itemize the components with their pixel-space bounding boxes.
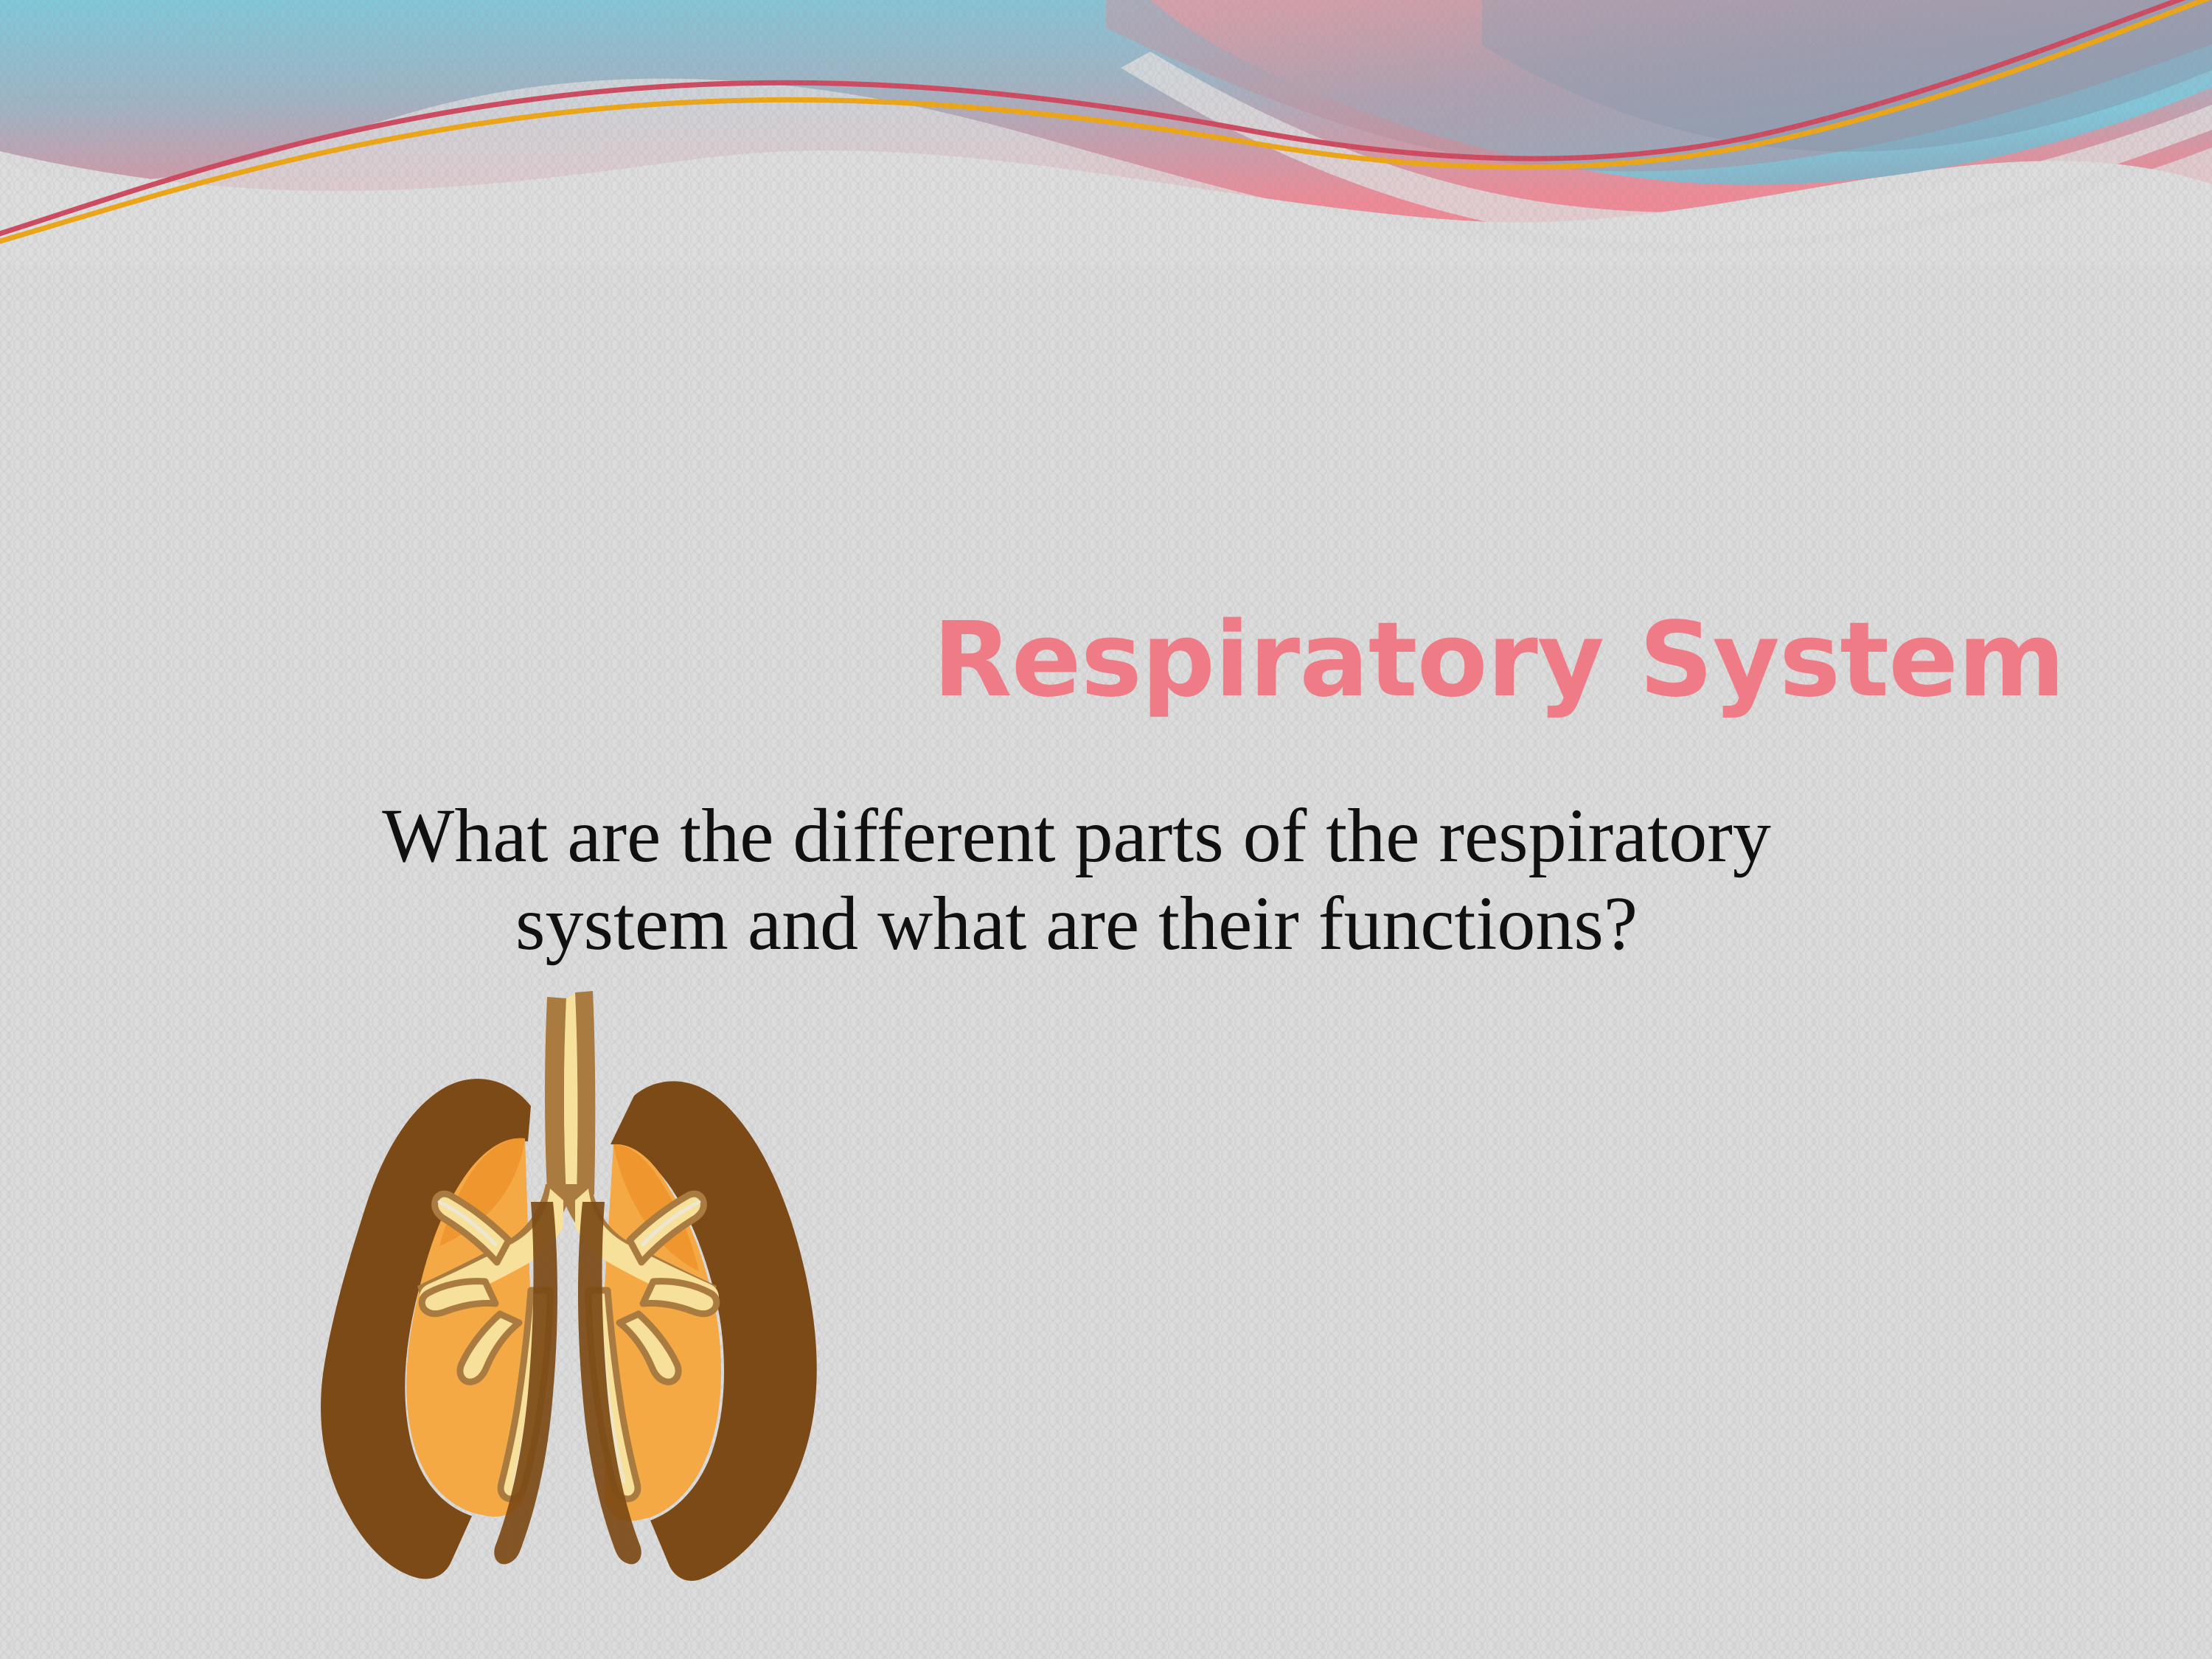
subtitle-block: What are the different parts of the resp… [136, 793, 2017, 967]
slide-subtitle-line-2: system and what are their functions? [136, 880, 2017, 968]
trachea-edge-right [575, 991, 595, 1197]
trachea-core [564, 994, 577, 1197]
presentation-slide: Respiratory System What are the differen… [0, 0, 2212, 1659]
trachea-edge-left [545, 997, 566, 1196]
slide-subtitle-line-1: What are the different parts of the resp… [136, 793, 2017, 880]
lungs-illustration [288, 981, 848, 1593]
title-block: Respiratory System [0, 605, 2065, 716]
header-decoration [0, 0, 2212, 265]
slide-title: Respiratory System [0, 605, 2065, 716]
